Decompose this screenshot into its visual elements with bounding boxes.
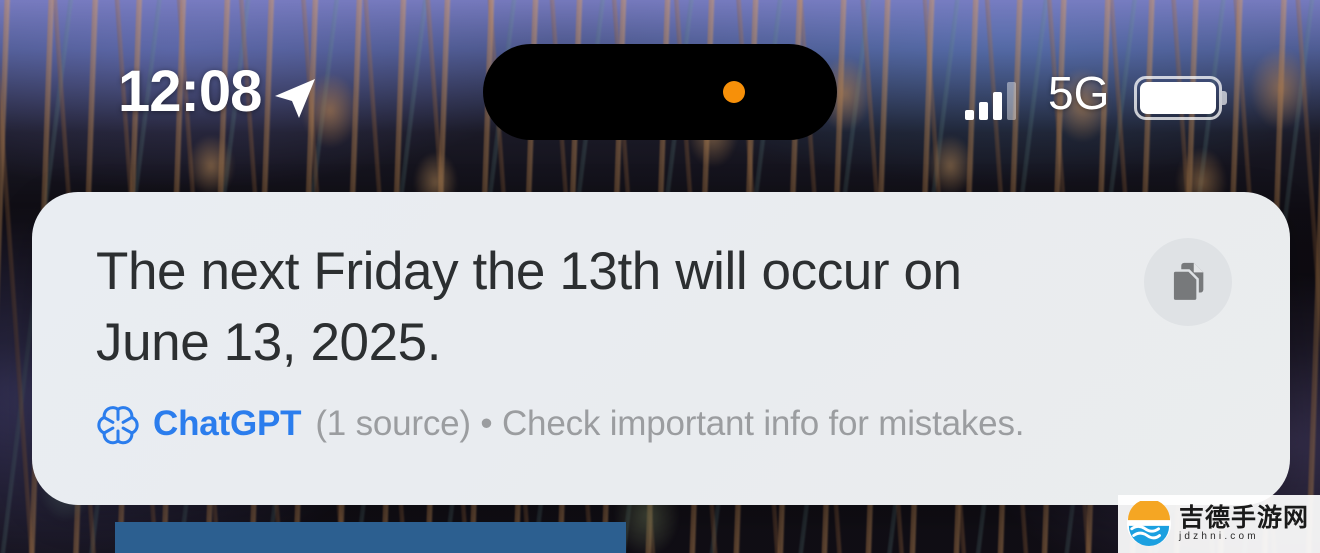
brand-label: ChatGPT [153, 406, 301, 441]
dynamic-island[interactable] [483, 44, 837, 140]
openai-logo-icon [96, 401, 140, 445]
status-bar-clock: 12:08 [118, 63, 261, 121]
notification-meta-row: ChatGPT (1 source) • Check important inf… [96, 401, 1024, 445]
battery-cap [1222, 91, 1227, 105]
answer-text: The next Friday the 13th will occur on J… [96, 236, 1140, 378]
watermark: 吉德手游网 jdzhni.com [1118, 495, 1320, 553]
watermark-text: 吉德手游网 jdzhni.com [1179, 506, 1309, 542]
watermark-logo-icon [1126, 501, 1172, 547]
notification-body: The next Friday the 13th will occur on J… [96, 236, 1140, 378]
cellular-signal-icon [965, 80, 1017, 120]
battery-icon [1134, 76, 1222, 120]
copy-button[interactable] [1144, 238, 1232, 326]
phone-lock-screen: 12:08 5G The next Friday the 13th will o… [0, 0, 1320, 553]
notification-meta-text: (1 source) • Check important info for mi… [315, 406, 1024, 441]
microphone-active-dot [723, 81, 745, 103]
battery-fill [1140, 82, 1216, 114]
watermark-url: jdzhni.com [1179, 532, 1309, 542]
network-type-label: 5G [1048, 70, 1109, 116]
bottom-app-bar [115, 522, 626, 553]
copy-icon [1165, 259, 1211, 305]
location-arrow-icon [270, 74, 318, 122]
watermark-name: 吉德手游网 [1179, 506, 1309, 531]
chatgpt-notification-card[interactable]: The next Friday the 13th will occur on J… [32, 192, 1290, 505]
